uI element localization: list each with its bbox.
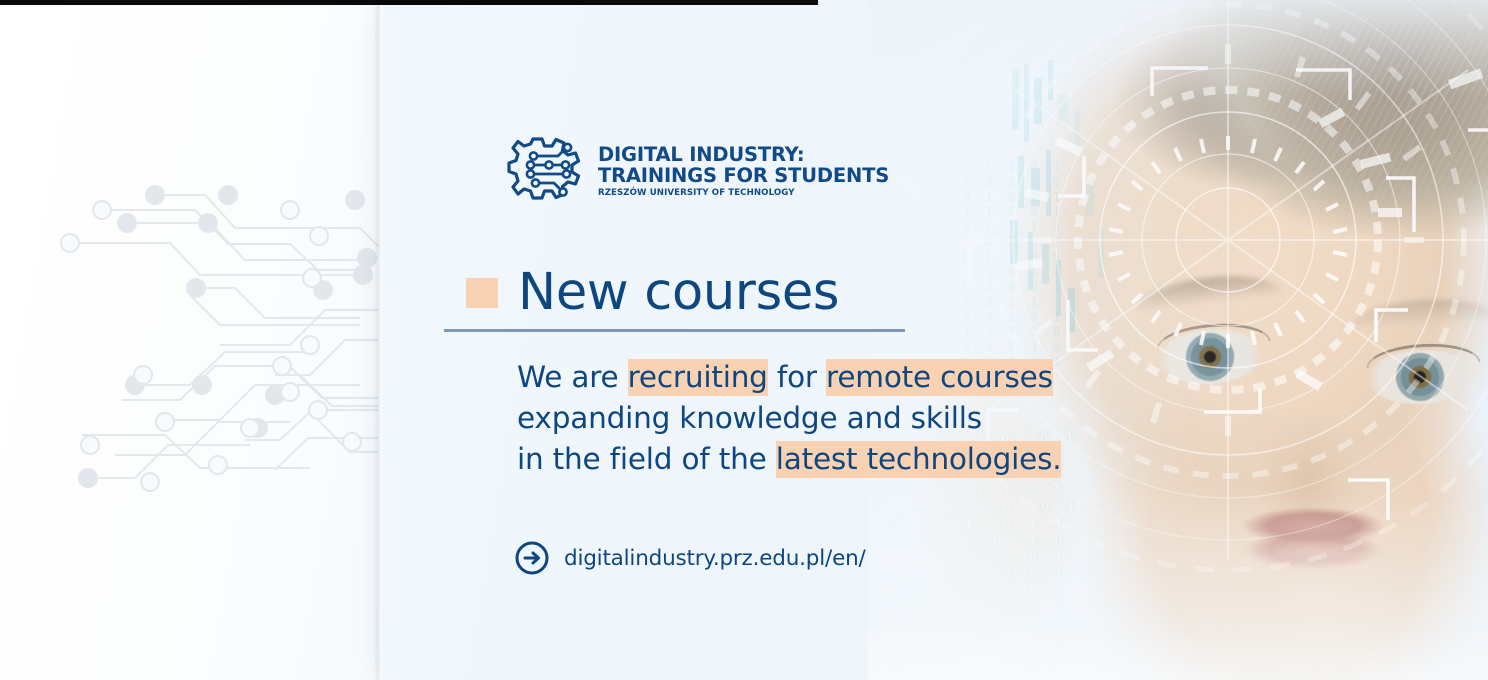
logo-line-1: DIGITAL INDUSTRY:: [598, 144, 889, 165]
body-copy-line: in the field of the latest technologies.: [517, 439, 1061, 480]
highlighted-phrase: latest technologies.: [776, 441, 1062, 478]
logo-line-2: TRAININGS FOR STUDENTS: [598, 165, 889, 186]
content-layer: DIGITAL INDUSTRY: TRAININGS FOR STUDENTS…: [0, 0, 1488, 680]
page-title: New courses: [518, 266, 839, 320]
body-copy-text: in the field of the: [517, 442, 776, 476]
website-link[interactable]: digitalindustry.prz.edu.pl/en/: [515, 541, 866, 575]
brand-logo[interactable]: DIGITAL INDUSTRY: TRAININGS FOR STUDENTS…: [506, 133, 889, 211]
logo-line-3: RZESZÓW UNIVERSITY OF TECHNOLOGY: [598, 187, 889, 200]
body-copy: We are recruiting for remote coursesexpa…: [517, 357, 1061, 480]
title-divider: [444, 329, 905, 332]
body-copy-line: We are recruiting for remote courses: [517, 357, 1061, 398]
top-accent-bar: [0, 0, 818, 5]
highlighted-phrase: recruiting: [628, 359, 768, 396]
body-copy-text: for: [768, 360, 826, 394]
website-url-label: digitalindustry.prz.edu.pl/en/: [564, 546, 866, 571]
gear-circuit-icon: [506, 133, 588, 211]
highlighted-phrase: remote courses: [826, 359, 1053, 396]
body-copy-text: expanding knowledge and skills: [517, 401, 982, 435]
promo-banner: 0 1 1 0 1 1 0 0 1 0 0 1 0 1 1 1 1 0 0 1 …: [0, 0, 1488, 680]
arrow-right-circle-icon: [515, 541, 549, 575]
brand-logo-text: DIGITAL INDUSTRY: TRAININGS FOR STUDENTS…: [598, 144, 889, 200]
body-copy-text: We are: [517, 360, 628, 394]
body-copy-line: expanding knowledge and skills: [517, 398, 1061, 439]
square-bullet-icon: [466, 278, 498, 308]
page-title-row: New courses: [466, 266, 839, 320]
